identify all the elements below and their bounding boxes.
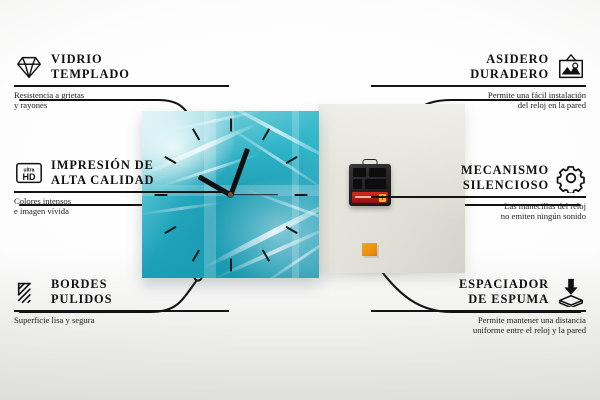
feature-divider: [371, 310, 586, 312]
feature-title: IMPRESIÓN DE ALTA CALIDAD: [51, 158, 154, 187]
feature-divider: [371, 85, 586, 87]
foam-spacer-arrow-icon: [556, 277, 586, 307]
feature-title: VIDRIO TEMPLADO: [51, 52, 130, 81]
feature-espaciador-de-espuma: ESPACIADOR DE ESPUMA Permite mantener un…: [371, 277, 586, 336]
feature-description: Colores intensos e imagen vívida: [14, 196, 229, 217]
gear-icon: [556, 163, 586, 193]
hour-tick: [164, 225, 176, 233]
diamond-icon: [14, 52, 44, 82]
feature-asidero-duradero: ASIDERO DURADERO Permite una fácil insta…: [371, 52, 586, 111]
hour-tick: [191, 249, 199, 261]
hour-tick: [229, 118, 231, 131]
feature-divider: [14, 191, 229, 193]
feature-title: ASIDERO DURADERO: [470, 52, 549, 81]
feature-divider: [14, 310, 229, 312]
svg-text:HD: HD: [23, 172, 36, 182]
feature-description: Permite mantener una distancia uniforme …: [371, 315, 586, 336]
feature-description: Superficie lisa y segura: [14, 315, 229, 326]
movement-detail: [353, 179, 362, 189]
feature-bordes-pulidos: BORDES PULIDOS Superficie lisa y segura: [14, 277, 229, 325]
movement-detail: [353, 168, 366, 177]
second-hand: [231, 194, 278, 196]
hour-tick: [285, 225, 297, 233]
feature-title: ESPACIADOR DE ESPUMA: [459, 277, 549, 306]
hour-tick: [261, 128, 269, 140]
feature-mecanismo-silencioso: MECANISMO SILENCIOSO Las manecillas del …: [371, 163, 586, 222]
feature-title: BORDES PULIDOS: [51, 277, 112, 306]
feature-impresion-alta-calidad: ultra HD IMPRESIÓN DE ALTA CALIDAD Color…: [14, 158, 229, 217]
feature-title: MECANISMO SILENCIOSO: [461, 163, 549, 192]
hour-tick: [261, 249, 269, 261]
wall-hanging-frame-icon: [556, 52, 586, 82]
hour-tick: [229, 258, 231, 271]
foam-spacer-pad: [362, 243, 377, 256]
feature-description: Permite una fácil instalación del reloj …: [371, 90, 586, 111]
feature-description: Las manecillas del reloj no emiten ningú…: [371, 201, 586, 222]
infographic-canvas: VIDRIO TEMPLADO Resistencia a grietas y …: [0, 0, 600, 400]
hour-tick: [294, 193, 307, 195]
feature-divider: [14, 85, 229, 87]
feature-divider: [371, 196, 586, 198]
feature-vidrio-templado: VIDRIO TEMPLADO Resistencia a grietas y …: [14, 52, 229, 111]
polished-edges-icon: [14, 277, 44, 307]
hour-tick: [285, 155, 297, 163]
feature-description: Resistencia a grietas y rayones: [14, 90, 229, 111]
hour-tick: [191, 128, 199, 140]
ultra-hd-icon: ultra HD: [14, 158, 44, 188]
